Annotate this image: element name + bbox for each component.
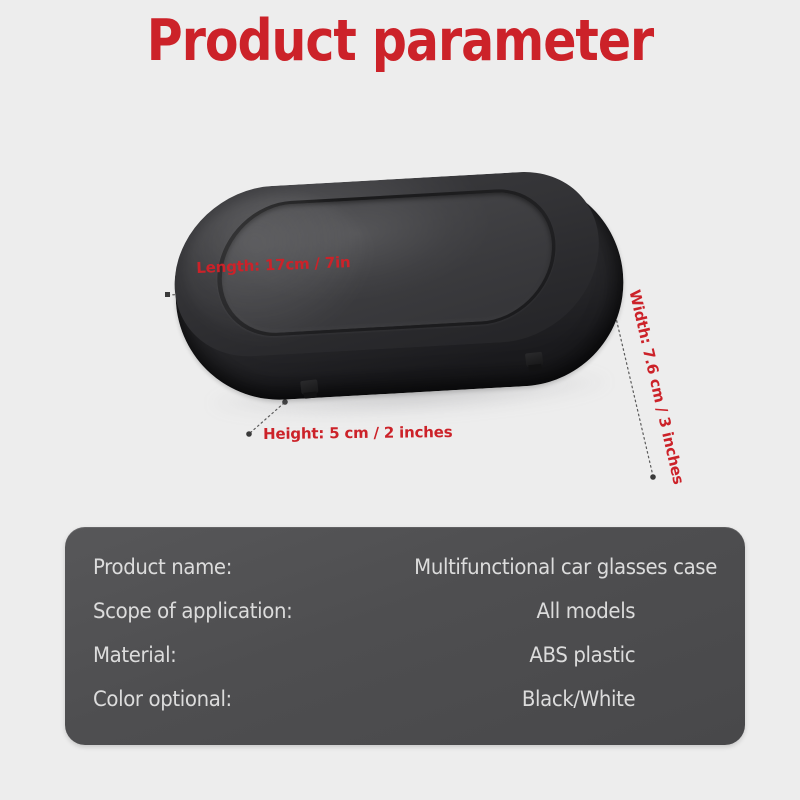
spec-label-material: Material: bbox=[93, 641, 347, 669]
case-clip-tab-left bbox=[300, 379, 318, 395]
spec-label-color-optional: Color optional: bbox=[93, 685, 347, 713]
spec-label-product-name: Product name: bbox=[93, 553, 347, 581]
spec-value-material: ABS plastic bbox=[384, 641, 717, 669]
spec-row-color-optional: Color optional: Black/White bbox=[93, 685, 717, 729]
spec-value-product-name: Multifunctional car glasses case bbox=[384, 553, 717, 581]
product-illustration bbox=[164, 162, 637, 432]
spec-label-scope-of-application: Scope of application: bbox=[93, 597, 347, 625]
height-dimension-label: Height: 5 cm / 2 inches bbox=[263, 423, 453, 443]
spec-panel: Product name: Multifunctional car glasse… bbox=[65, 527, 745, 745]
page-title: Product parameter bbox=[56, 8, 744, 74]
case-clip-tab-right bbox=[525, 352, 543, 368]
spec-row-scope-of-application: Scope of application: All models bbox=[93, 597, 717, 641]
spec-row-material: Material: ABS plastic bbox=[93, 641, 717, 685]
spec-value-scope-of-application: All models bbox=[384, 597, 717, 625]
spec-row-product-name: Product name: Multifunctional car glasse… bbox=[93, 553, 717, 597]
spec-value-color-optional: Black/White bbox=[384, 685, 717, 713]
spec-table: Product name: Multifunctional car glasse… bbox=[93, 553, 717, 729]
product-parameter-page: Product parameter bbox=[0, 0, 800, 800]
